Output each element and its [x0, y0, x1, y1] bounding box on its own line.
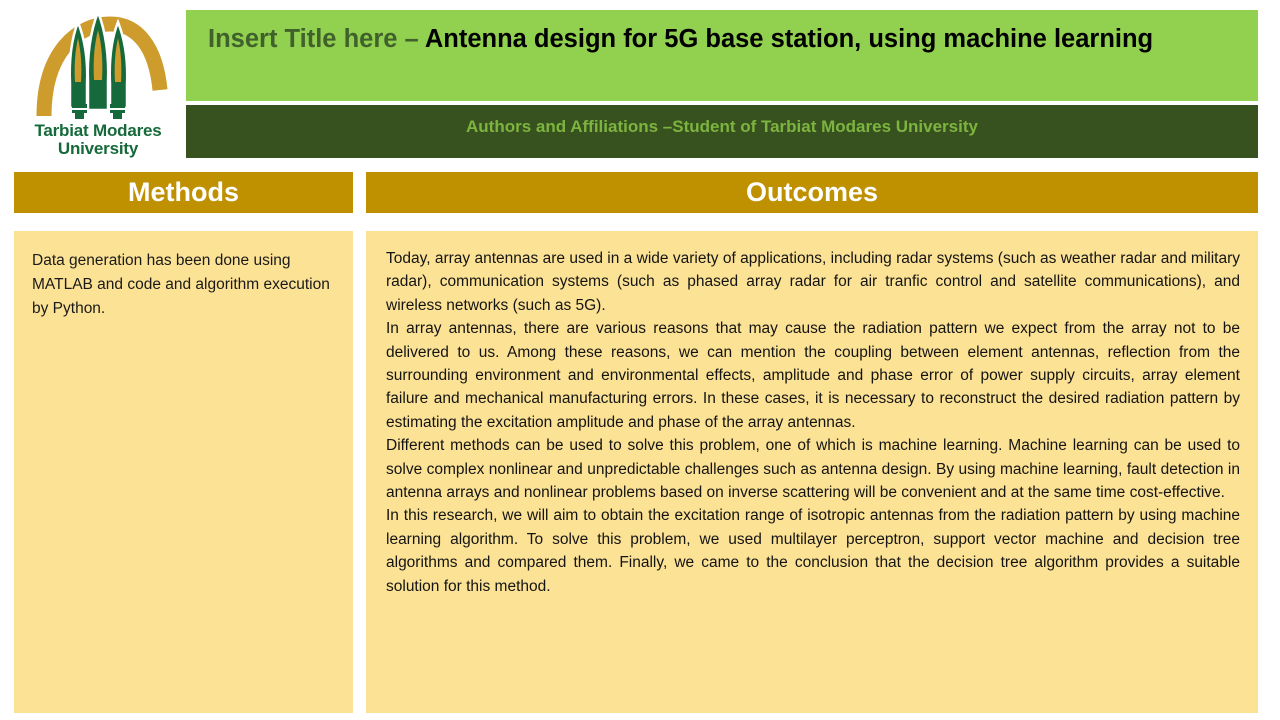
authors-affiliations-bar: Authors and Affiliations –Student of Tar…	[186, 105, 1258, 158]
section-panel-outcomes: Today, array antennas are used in a wide…	[366, 231, 1258, 713]
university-logo-text: Tarbiat Modares University	[14, 122, 182, 158]
outcomes-paragraph: Today, array antennas are used in a wide…	[386, 247, 1240, 317]
section-header-outcomes: Outcomes	[366, 172, 1258, 213]
logo-text-line1: Tarbiat Modares	[14, 122, 182, 140]
section-panel-methods: Data generation has been done using MATL…	[14, 231, 353, 713]
page-title-main: Antenna design for 5G base station, usin…	[425, 25, 1153, 53]
university-logo-mark-icon	[14, 4, 182, 122]
section-header-methods: Methods	[14, 172, 353, 213]
poster-title-bar: Insert Title here – Antenna design for 5…	[186, 10, 1258, 101]
outcomes-paragraph: In array antennas, there are various rea…	[386, 317, 1240, 434]
logo-text-line2: University	[14, 140, 182, 158]
university-logo: Tarbiat Modares University	[14, 4, 182, 162]
methods-body-text: Data generation has been done using MATL…	[32, 249, 339, 321]
authors-affiliations-text: Authors and Affiliations –Student of Tar…	[186, 117, 1258, 137]
page-title: Insert Title here – Antenna design for 5…	[208, 24, 1236, 54]
outcomes-paragraph: In this research, we will aim to obtain …	[386, 504, 1240, 598]
page-title-prefix: Insert Title here –	[208, 25, 425, 53]
outcomes-paragraph: Different methods can be used to solve t…	[386, 434, 1240, 504]
outcomes-body-text: Today, array antennas are used in a wide…	[386, 247, 1240, 598]
